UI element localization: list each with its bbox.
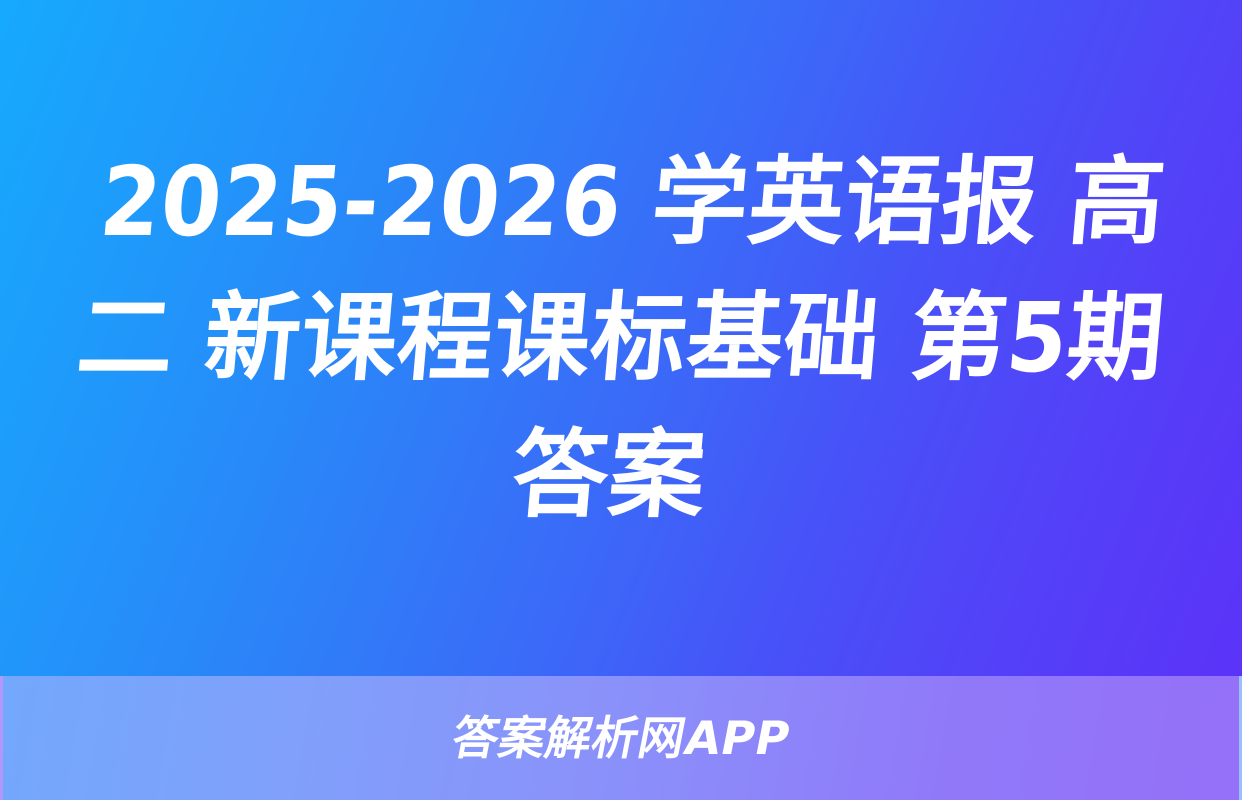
answer-card: 2025-2026 学英语报 高二 新课程课标基础 第5期答案 答案解析网APP: [0, 0, 1242, 800]
hero-content: 2025-2026 学英语报 高二 新课程课标基础 第5期答案: [61, 134, 1181, 543]
hero-gradient-panel: 2025-2026 学英语报 高二 新课程课标基础 第5期答案: [0, 0, 1242, 676]
app-watermark-label: 答案解析网APP: [448, 715, 794, 761]
app-watermark-bar[interactable]: 答案解析网APP: [0, 676, 1242, 800]
page-title: 2025-2026 学英语报 高二 新课程课标基础 第5期答案: [51, 134, 1191, 543]
